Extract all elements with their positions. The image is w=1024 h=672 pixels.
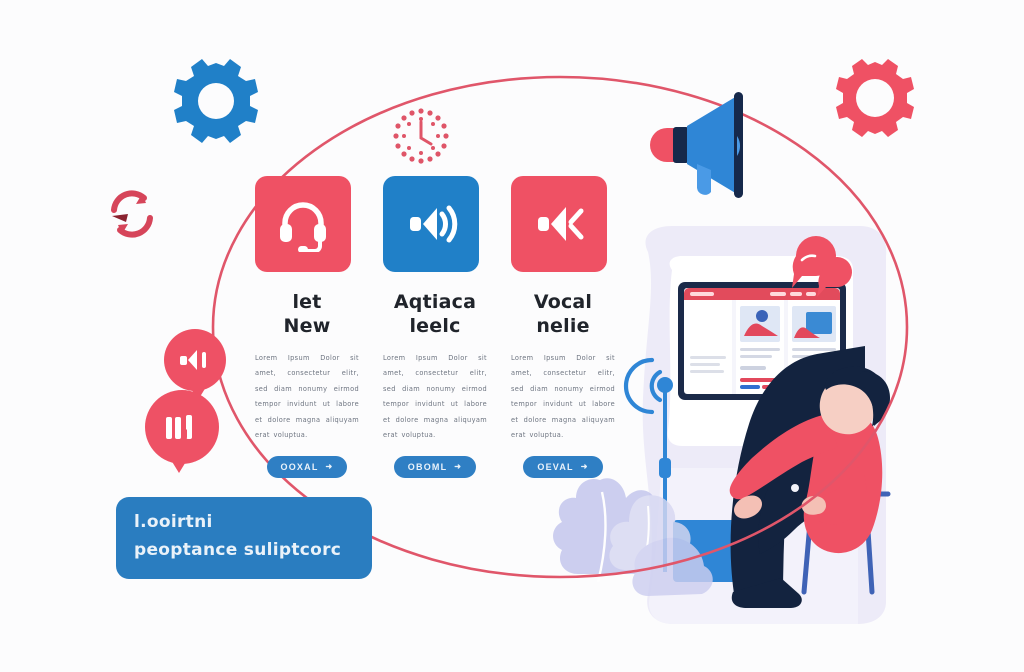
card-title: let New [255,290,359,339]
card-title-line1: Aqtiaca [383,290,487,314]
card-icon-tile [255,176,351,272]
card-cta-button[interactable]: OBOML ➜ [394,456,476,478]
card-body-text: Lorem Ipsum Dolor sit amet, consectetur … [255,351,359,444]
equalizer-bubble[interactable] [145,390,219,464]
card-title: Aqtiaca leelc [383,290,487,339]
card-icon-tile [383,176,479,272]
illustration-canvas: let New Lorem Ipsum Dolor sit amet, cons… [0,0,1024,672]
card-title-line1: let [255,290,359,314]
card-title-line2: New [255,314,359,338]
card-cta-label: OOXAL [281,462,319,472]
card-body-text: Lorem Ipsum Dolor sit amet, consectetur … [511,351,615,444]
card-title-line2: nelie [511,314,615,338]
card-title-line2: leelc [383,314,487,338]
card-cta-label: OBOML [408,462,448,472]
refresh-icon [112,193,150,234]
headset-icon [275,196,331,252]
card-cta-button[interactable]: OEVAL ➜ [523,456,602,478]
gear-icon [174,59,258,143]
card-body-text: Lorem Ipsum Dolor sit amet, consectetur … [383,351,487,444]
equalizer-icon [162,411,202,443]
card-icon-tile [511,176,607,272]
gear-icon [836,59,914,137]
clock-icon [393,108,448,163]
feature-card-list: let New Lorem Ipsum Dolor sit amet, cons… [255,176,615,478]
arrow-right-icon: ➜ [581,462,589,471]
arrow-right-icon: ➜ [454,462,462,471]
card-cta-label: OEVAL [537,462,573,472]
speaker-bubble[interactable] [164,329,226,391]
card-title-line1: Vocal [511,290,615,314]
callout-line2: peoptance suliptcorc [134,537,354,565]
arrow-right-icon: ➜ [326,462,334,471]
feature-card[interactable]: Aqtiaca leelc Lorem Ipsum Dolor sit amet… [383,176,487,478]
speaker-waves-icon [403,196,459,252]
feature-card[interactable]: Vocal nelie Lorem Ipsum Dolor sit amet, … [511,176,615,478]
feature-card[interactable]: let New Lorem Ipsum Dolor sit amet, cons… [255,176,359,478]
speaker-mute-icon [531,196,587,252]
volume-icon [178,345,212,375]
megaphone-icon [650,92,743,198]
card-cta-button[interactable]: OOXAL ➜ [267,456,348,478]
callout-banner[interactable]: l.ooirtni peoptance suliptcorc [116,497,372,579]
callout-line1: l.ooirtni [134,509,354,537]
card-title: Vocal nelie [511,290,615,339]
